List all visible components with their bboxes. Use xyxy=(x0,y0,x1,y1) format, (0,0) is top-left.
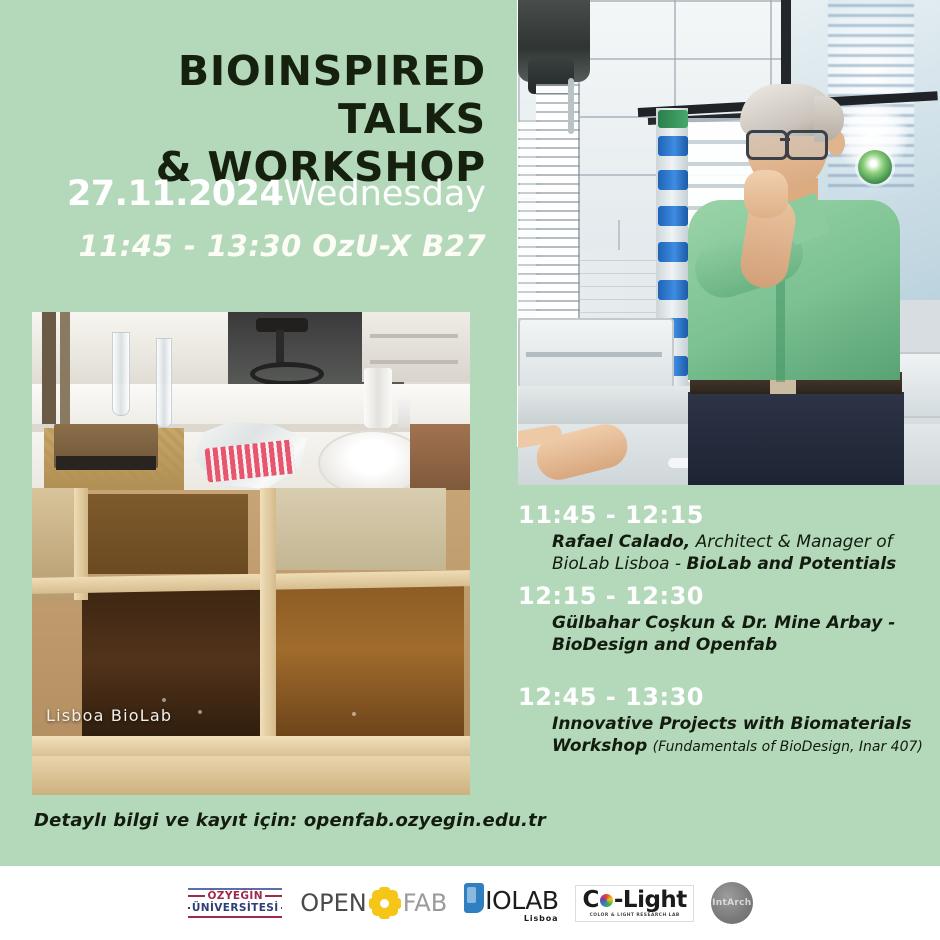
color-wheel-icon xyxy=(600,894,613,907)
paper-cup xyxy=(364,368,392,428)
schedule-item-3: 12:45 - 13:30 Innovative Projects with B… xyxy=(518,682,926,757)
openfab-word-open: OPEN xyxy=(300,889,366,917)
photo-caption-lisboa-biolab: Lisboa BioLab xyxy=(46,706,172,725)
schedule-spacer xyxy=(518,662,926,682)
graduated-cylinder xyxy=(156,338,172,428)
schedule-course-3: (Fundamentals of BioDesign, Inar 407) xyxy=(653,739,923,755)
tray-divider-vertical xyxy=(260,488,276,750)
gear-icon xyxy=(372,890,398,916)
frame-post-secondary xyxy=(60,312,70,424)
eyeglasses-left-lens xyxy=(746,130,788,160)
logo-biolab-lisboa[interactable]: IOLAB Lisboa xyxy=(464,883,558,923)
logo-open-fab[interactable]: OPEN FAB xyxy=(300,889,447,917)
speaker-trousers xyxy=(688,392,904,485)
logo-ozyegin-universitesi[interactable]: ÖZYEĞİN ÜNİVERSİTESİ xyxy=(187,888,283,918)
surface-speck xyxy=(162,698,166,702)
schedule-item-1: 11:45 - 12:15 Rafael Calado, Architect &… xyxy=(518,500,926,575)
ozu-rule-bottom xyxy=(188,916,282,918)
biomaterial-sample-right xyxy=(410,424,470,496)
ozu-logo-line1: ÖZYEĞİN xyxy=(205,890,264,902)
schedule-topic-2: BioDesign and Openfab xyxy=(552,635,777,655)
schedule-time-1: 11:45 - 12:15 xyxy=(518,500,926,530)
biolab-wordmark: IOLAB xyxy=(485,889,558,913)
test-tube xyxy=(112,332,130,416)
valve-cap-blue xyxy=(658,170,688,190)
stool-post xyxy=(276,330,284,364)
ozu-rule-left xyxy=(188,895,205,897)
schedule-desc-3: Innovative Projects with Biomaterials Wo… xyxy=(552,713,926,757)
biolab-sublabel: Lisboa xyxy=(524,914,559,923)
schedule-speaker-1: Rafael Calado, xyxy=(552,532,690,552)
biomaterial-trays-photo: Lisboa BioLab xyxy=(32,312,470,795)
event-date: 27.11.2024Wednesday xyxy=(34,176,486,213)
valve-cap-blue xyxy=(658,136,688,156)
valve-cap-blue xyxy=(658,242,688,262)
registration-note: Detaylı bilgi ve kayıt için: openfab.ozy… xyxy=(34,810,546,831)
intarch-wordmark: IntArch xyxy=(712,898,751,908)
eyeglasses-bridge xyxy=(780,138,790,141)
ozu-logo-line2: ÜNİVERSİTESİ xyxy=(190,902,281,914)
ozu-rule-right xyxy=(265,895,282,897)
flask-icon xyxy=(464,883,484,913)
hanging-tube xyxy=(568,78,574,134)
page-title-line1: BIOINSPIRED TALKS xyxy=(34,48,486,144)
biolab-wordmark-row: IOLAB xyxy=(464,883,558,913)
small-bottle xyxy=(398,398,410,428)
valve-cap-blue xyxy=(658,206,688,226)
speaker-in-lab-photo xyxy=(518,0,940,485)
ozu-rule-right-2 xyxy=(281,907,283,909)
openfab-word-fab: FAB xyxy=(403,889,447,917)
eyeglasses-right-lens xyxy=(786,130,828,160)
valve-cap-green xyxy=(658,110,688,128)
schedule-item-2: 12:15 - 12:30 Gülbahar Coşkun & Dr. Mine… xyxy=(518,581,926,656)
schedule-desc-1: Rafael Calado, Architect & Manager of Bi… xyxy=(552,531,926,575)
colight-sublabel: COLOR & LIGHT RESEARCH LAB xyxy=(590,913,680,918)
surface-speck xyxy=(352,712,356,716)
surface-speck xyxy=(198,710,202,714)
event-date-number: 27.11.2024 xyxy=(67,174,283,214)
ozu-line1-row: ÖZYEĞİN xyxy=(188,890,282,902)
schedule-desc-2: Gülbahar Coşkun & Dr. Mine Arbay - BioDe… xyxy=(552,612,926,656)
tray-cell-amber xyxy=(276,576,464,738)
valve-cap-blue xyxy=(658,280,688,300)
colight-letter-c: C xyxy=(582,889,598,912)
sponsor-logo-bar: ÖZYEĞİN ÜNİVERSİTESİ OPEN FAB IOLAB Lisb… xyxy=(0,866,940,940)
frame-post xyxy=(42,312,56,424)
schedule-time-2: 12:15 - 12:30 xyxy=(518,581,926,611)
tray-divider-horizontal xyxy=(32,736,470,756)
cabinet-drawer-line xyxy=(370,360,458,364)
cabinet-drawer-line xyxy=(370,334,458,338)
colight-wordmark: C-Light xyxy=(582,889,686,912)
dark-biomaterial-layer xyxy=(56,456,156,470)
schedule-topic-1: BioLab and Potentials xyxy=(686,554,896,574)
tray-cell-brown xyxy=(88,494,248,574)
tray-front-rail xyxy=(32,756,470,795)
event-time-and-place: 11:45 - 13:30 OzU-X B27 xyxy=(34,231,486,263)
logo-intarch[interactable]: IntArch xyxy=(711,882,753,924)
stool-base xyxy=(250,362,324,386)
speaker-hand-on-chin xyxy=(744,170,788,218)
wall-badge-sticker xyxy=(858,150,892,184)
colight-word-light: -Light xyxy=(614,889,687,912)
event-date-day: Wednesday xyxy=(283,174,486,214)
page-title: BIOINSPIRED TALKS & WORKSHOP xyxy=(34,48,486,192)
schedule-speaker-2: Gülbahar Coşkun & Dr. Mine Arbay - xyxy=(552,613,895,633)
lab-machine-seam xyxy=(526,352,662,357)
ozu-line2-row: ÜNİVERSİTESİ xyxy=(188,902,282,914)
tray-cell-light xyxy=(260,488,446,570)
schedule-list: 11:45 - 12:15 Rafael Calado, Architect &… xyxy=(518,500,926,764)
logo-co-light[interactable]: C-Light COLOR & LIGHT RESEARCH LAB xyxy=(575,885,693,922)
schedule-time-3: 12:45 - 13:30 xyxy=(518,682,926,712)
poster-canvas: Lisboa BioLab BIOINSPIRED TALKS & WORKSH… xyxy=(0,0,940,940)
